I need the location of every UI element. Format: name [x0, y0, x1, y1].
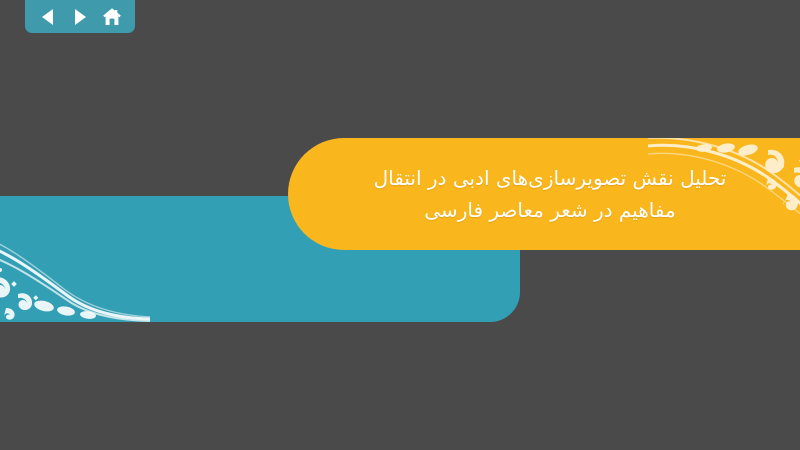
triangle-right-icon — [72, 8, 88, 26]
home-button[interactable] — [99, 5, 125, 29]
triangle-left-icon — [40, 8, 56, 26]
previous-button[interactable] — [35, 5, 61, 29]
title-slide: تحلیل نقش تصویرسازی‌های ادبی در انتقال م… — [0, 0, 800, 450]
navigation-bar — [25, 0, 135, 33]
home-icon — [101, 7, 123, 27]
arabesque-ornament-teal — [0, 196, 150, 322]
next-button[interactable] — [67, 5, 93, 29]
orange-title-panel — [288, 138, 800, 250]
arabesque-ornament-orange — [648, 138, 800, 250]
